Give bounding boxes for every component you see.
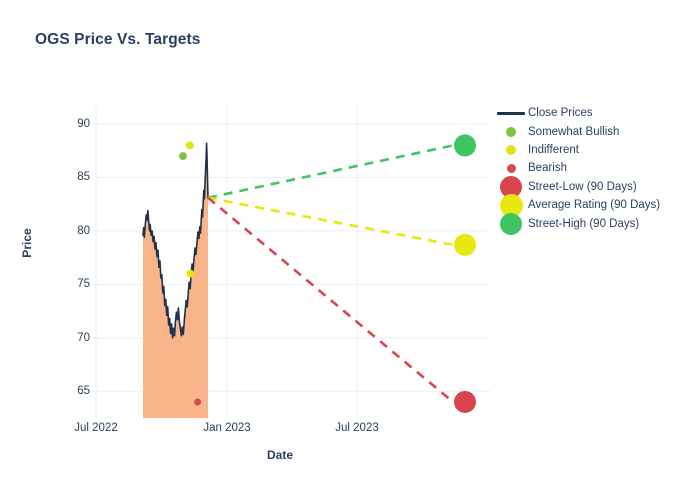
legend-dot-swatch xyxy=(500,213,522,235)
chart-legend: Close PricesSomewhat BullishIndifferentB… xyxy=(496,104,696,233)
legend-line-swatch xyxy=(497,112,525,115)
legend-item-label: Close Prices xyxy=(526,107,593,119)
legend-key-dot xyxy=(496,164,526,173)
target-marker[interactable] xyxy=(454,391,476,413)
target-trend-line[interactable] xyxy=(208,145,453,197)
close-price-area-fill xyxy=(143,143,208,418)
legend-item[interactable]: Somewhat Bullish xyxy=(496,122,696,140)
legend-key-dot xyxy=(496,145,526,155)
legend-item-label: Bearish xyxy=(526,162,567,174)
target-marker[interactable] xyxy=(454,234,476,256)
rating-scatter-point[interactable] xyxy=(186,270,194,278)
rating-scatter-point[interactable] xyxy=(194,398,201,405)
legend-key-dot xyxy=(496,127,526,137)
legend-item-label: Average Rating (90 Days) xyxy=(526,199,660,211)
rating-scatter-point[interactable] xyxy=(179,152,187,160)
legend-dot-swatch xyxy=(507,164,516,173)
legend-item[interactable]: Bearish xyxy=(496,159,696,177)
target-trend-line[interactable] xyxy=(208,198,453,402)
plot-area xyxy=(0,0,700,500)
legend-key-dot xyxy=(496,213,526,235)
legend-item-label: Street-Low (90 Days) xyxy=(526,181,637,193)
chart-container: OGS Price Vs. Targets Price Date 6570758… xyxy=(0,0,700,500)
rating-scatter-point[interactable] xyxy=(186,141,194,149)
legend-item[interactable]: Indifferent xyxy=(496,141,696,159)
legend-dot-swatch xyxy=(506,145,516,155)
legend-item[interactable]: Average Rating (90 Days) xyxy=(496,196,696,214)
legend-item-label: Indifferent xyxy=(526,144,579,156)
legend-key-line xyxy=(496,112,526,115)
legend-item[interactable]: Street-High (90 Days) xyxy=(496,214,696,232)
legend-dot-swatch xyxy=(506,127,516,137)
legend-item-label: Street-High (90 Days) xyxy=(526,218,639,230)
target-marker[interactable] xyxy=(454,134,476,156)
legend-item[interactable]: Close Prices xyxy=(496,104,696,122)
legend-item[interactable]: Street-Low (90 Days) xyxy=(496,178,696,196)
legend-item-label: Somewhat Bullish xyxy=(526,126,619,138)
target-trend-line[interactable] xyxy=(208,198,453,245)
